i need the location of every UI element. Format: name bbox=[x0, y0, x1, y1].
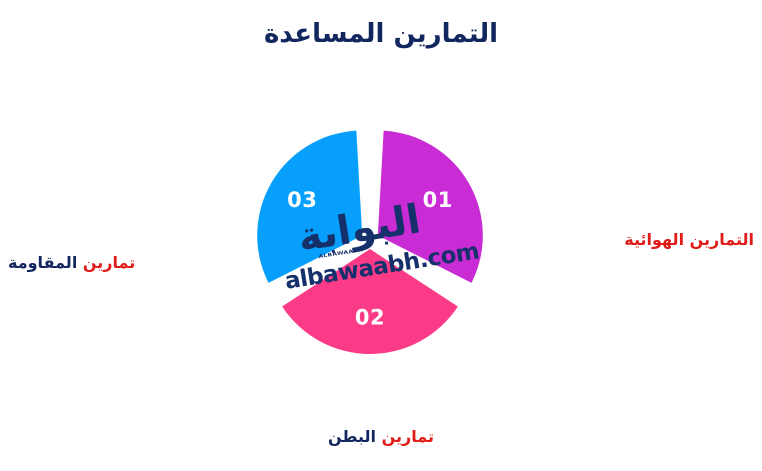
category-label-abs: تمارين البطن bbox=[0, 427, 762, 448]
category-label-resistance-text-1: تمارين bbox=[83, 253, 135, 272]
category-label-resistance: تمارين المقاومة bbox=[8, 253, 135, 274]
category-label-abs-text-1: تمارين bbox=[382, 427, 434, 446]
infographic-canvas: التمارين المساعدة 01 02 03 البوابة ALBAW… bbox=[0, 0, 762, 471]
pie-slice-label-01: 01 bbox=[423, 188, 453, 212]
pie-slice-label-03: 03 bbox=[287, 188, 317, 212]
pie-slice-label-02: 02 bbox=[355, 305, 385, 329]
category-label-resistance-text-2: المقاومة bbox=[8, 253, 77, 272]
category-label-aerobic-text: التمارين الهوائية bbox=[624, 230, 754, 249]
category-label-aerobic: التمارين الهوائية bbox=[624, 230, 754, 251]
pie-slice-02[interactable] bbox=[282, 249, 458, 354]
category-label-abs-text-2: البطن bbox=[328, 427, 376, 446]
